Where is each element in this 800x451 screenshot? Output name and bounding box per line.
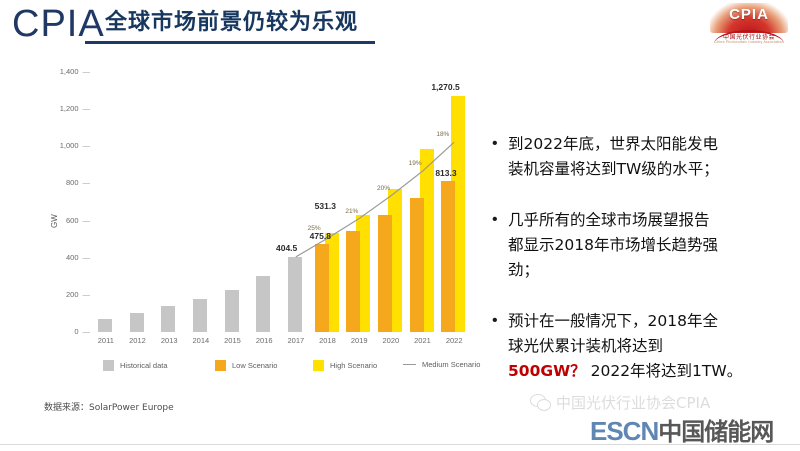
page-title: 全球市场前景仍较为乐观 [105,6,358,40]
bullet-line: 都显示2018年市场增长趋势强 [508,233,718,258]
legend-item: Low Scenario [215,360,277,371]
bullet-dot-icon: • [492,309,508,384]
legend-label: Low Scenario [232,361,277,370]
value-label-2022-high: 1,270.5 [431,82,459,92]
bar-historical [130,313,144,332]
x-axis-tick: 2013 [153,336,185,345]
wechat-account-name: 中国光伏行业协会CPIA [556,392,710,413]
bar-group [122,72,154,332]
y-axis-tick: 800— [28,178,90,187]
bar-historical [225,290,239,332]
bar-group [280,72,312,332]
legend-swatch [103,360,114,371]
bar-low-scenario [346,231,360,332]
bullet-dot-icon: • [492,208,508,283]
value-label-2022-low: 813.3 [435,168,456,178]
cpia-wordmark: CPIA [12,2,105,46]
growth-label-2019: 21% [345,208,358,215]
bullet-line-highlighted: 500GW？ 2022年将达到1TW。 [508,359,742,384]
bullet-line: 装机容量将达到TW级的水平； [508,157,719,182]
legend-label: Historical data [120,361,168,370]
x-axis-tick: 2015 [217,336,249,345]
legend-swatch [215,360,226,371]
bar-historical [193,299,207,332]
y-axis-tick: 400— [28,253,90,262]
wechat-bubble-small [537,399,551,411]
x-axis-tick: 2018 [312,336,344,345]
bullet-line: 球光伏累计装机将达到 [508,334,742,359]
list-item: • 到2022年底，世界太阳能发电 装机容量将达到TW级的水平； [492,132,792,182]
bar-group [438,72,470,332]
bar-low-scenario [410,198,424,332]
bar-group [217,72,249,332]
bar-low-scenario [315,244,329,332]
bar-group [90,72,122,332]
highlight-500gw: 500GW？ [508,362,586,380]
bullet-line: 几乎所有的全球市场展望报告 [508,208,718,233]
x-axis-tick: 2012 [122,336,154,345]
y-axis-tick: 200— [28,290,90,299]
bar-group [375,72,407,332]
x-axis-tick: 2020 [375,336,407,345]
bullet-text: 几乎所有的全球市场展望报告 都显示2018年市场增长趋势强 劲； [508,208,718,283]
escn-watermark: ESCN 中国储能网 [590,412,773,447]
title-underline [85,41,375,44]
y-axis-tick: 1,400— [28,67,90,76]
growth-label-2020: 20% [377,185,390,192]
escn-logo-chinese: 中国储能网 [658,412,773,447]
x-axis-tick: 2022 [438,336,470,345]
bullet-text: 到2022年底，世界太阳能发电 装机容量将达到TW级的水平； [508,132,719,182]
x-axis-tick: 2014 [185,336,217,345]
x-axis-tick: 2011 [90,336,122,345]
bar-low-scenario [378,215,392,332]
bullet-dot-icon: • [492,132,508,182]
y-axis-tick: 600— [28,216,90,225]
bar-historical [161,306,175,332]
legend-label: Medium Scenario [422,360,480,369]
legend-line-marker [403,364,416,365]
logo-acronym: CPIA [710,6,788,23]
wechat-watermark: 中国光伏行业协会CPIA [530,392,710,413]
solar-capacity-chart: GW 0—200—400—600—800—1,000—1,200—1,400— … [28,58,480,403]
legend-item: High Scenario [313,360,377,371]
logo-english-name: China Photovoltaic Industry Association [710,40,788,44]
slide-canvas: CPIA 全球市场前景仍较为乐观 CPIA 中国光伏行业协会 China Pho… [0,0,800,451]
plot-area: 2011201220132014201520162017201820192020… [90,72,470,332]
bar-historical [256,276,270,332]
bar-group [185,72,217,332]
y-axis-tick: 1,000— [28,141,90,150]
y-axis: 0—200—400—600—800—1,000—1,200—1,400— [28,72,90,332]
list-item: • 预计在一般情况下，2018年全 球光伏累计装机将达到 500GW？ 2022… [492,309,792,384]
bar-historical [288,257,302,332]
wechat-icon [530,394,550,411]
legend-item: Medium Scenario [403,360,480,369]
x-axis-tick: 2019 [343,336,375,345]
bullet-text: 预计在一般情况下，2018年全 球光伏累计装机将达到 500GW？ 2022年将… [508,309,742,384]
x-axis-tick: 2016 [248,336,280,345]
bar-group [343,72,375,332]
growth-label-2021: 19% [409,160,422,167]
bar-group [153,72,185,332]
value-label-2017: 404.5 [276,243,297,253]
legend-item: Historical data [103,360,168,371]
chart-legend: Historical dataLow ScenarioHigh Scenario… [103,360,483,378]
growth-label-2018: 25% [308,225,321,232]
value-label-2018-high: 531.3 [315,201,336,211]
x-axis-tick: 2021 [407,336,439,345]
bar-group [407,72,439,332]
bar-historical [98,319,112,332]
growth-label-2022: 18% [436,131,449,138]
y-axis-tick: 0— [28,327,90,336]
cpia-association-logo: CPIA 中国光伏行业协会 China Photovoltaic Industr… [710,3,788,47]
legend-swatch [313,360,324,371]
takeaways-list: • 到2022年底，世界太阳能发电 装机容量将达到TW级的水平； • 几乎所有的… [492,132,792,410]
bar-low-scenario [441,181,455,332]
bullet-line: 到2022年底，世界太阳能发电 [508,132,719,157]
bar-group [248,72,280,332]
bullet-line: 预计在一般情况下，2018年全 [508,309,742,334]
bottom-divider [0,444,800,445]
data-source-note: 数据来源：SolarPower Europe [44,400,174,413]
list-item: • 几乎所有的全球市场展望报告 都显示2018年市场增长趋势强 劲； [492,208,792,283]
x-axis-tick: 2017 [280,336,312,345]
y-axis-tick: 1,200— [28,104,90,113]
bullet-line: 劲； [508,258,718,283]
bullet-line-rest: 2022年将达到1TW。 [586,362,743,380]
slide-header: CPIA 全球市场前景仍较为乐观 CPIA 中国光伏行业协会 China Pho… [0,0,800,52]
escn-logo-text: ESCN [590,416,658,447]
legend-label: High Scenario [330,361,377,370]
